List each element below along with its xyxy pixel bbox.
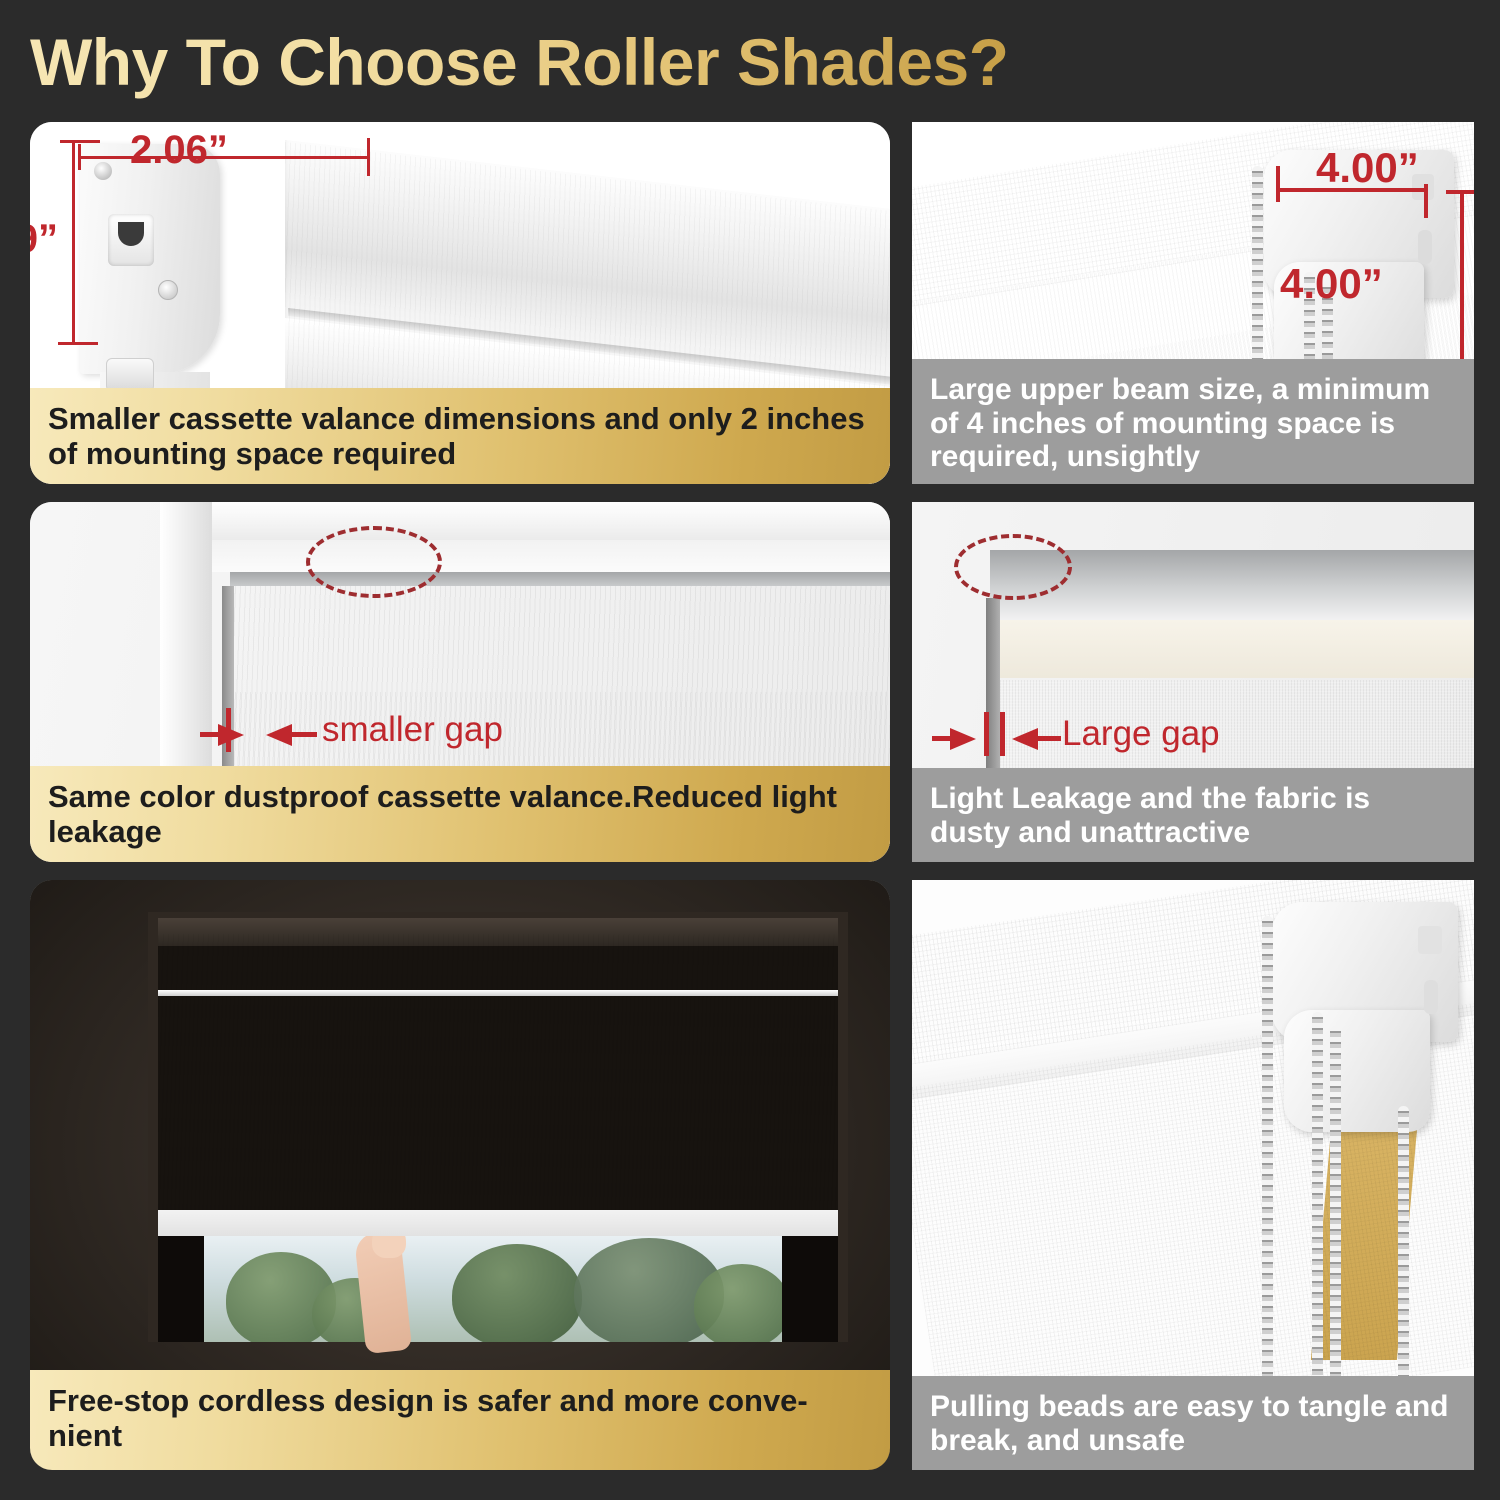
large-gap-label: Large gap <box>1062 714 1220 754</box>
width-dim-tick-left <box>78 144 81 170</box>
panel-large-gap: Large gap Light Leakage and the fabric i… <box>912 502 1474 862</box>
window-glass <box>202 1236 782 1342</box>
panel-1-caption: Smaller cassette valance dimensions and … <box>30 388 890 484</box>
roller-shade-fabric <box>158 996 838 1226</box>
gap-arrow-left-tail <box>200 732 222 737</box>
gap-arrow-right <box>266 724 292 746</box>
gap-marker-bar-2 <box>1000 712 1005 756</box>
panel-pulling-beads: Pulling beads are easy to tangle and bre… <box>912 880 1474 1470</box>
shade-hem-bar <box>158 1210 838 1236</box>
panel-5-caption: Free-stop cordless design is safer and m… <box>30 1370 890 1470</box>
beam-width-label: 4.00” <box>1316 144 1419 192</box>
panel-cordless-design: Free-stop cordless design is safer and m… <box>30 880 890 1470</box>
smaller-gap-label: smaller gap <box>322 710 503 750</box>
width-dimension-label: 2.06” <box>130 128 228 173</box>
height-dim-tick-bottom <box>58 342 98 345</box>
gap-highlight-ellipse <box>954 534 1072 600</box>
gap-marker-bar-1 <box>984 712 989 756</box>
panel-large-upper-beam: 4.00” 4.00” Large upper beam size, a min… <box>912 122 1474 484</box>
beam-width-tick-right <box>1424 184 1428 218</box>
panel-smaller-gap: smaller gap Same color dustproof cassett… <box>30 502 890 862</box>
beam-height-label: 4.00” <box>1280 260 1383 308</box>
valance-roller-slot <box>108 214 154 266</box>
gap-arrow-left-tail <box>932 736 954 741</box>
height-dimension-label: 5.49” <box>30 217 58 262</box>
beam-width-tick-left <box>1276 166 1280 202</box>
height-dim-tick-top <box>60 140 100 143</box>
width-dim-tick-right <box>367 138 370 176</box>
gap-highlight-ellipse <box>306 526 442 598</box>
panel-2-caption: Large upper beam size, a minimum of 4 in… <box>912 359 1474 484</box>
page-title: Why To Choose Roller Shades? <box>30 18 1130 106</box>
gap-arrow-right-tail <box>1037 736 1061 741</box>
gap-arrow-right <box>1012 728 1038 750</box>
panel-3-caption: Same color dustproof cassette valance.Re… <box>30 766 890 862</box>
cassette-valance <box>158 934 838 996</box>
panel-4-caption: Light Leakage and the fabric is dusty an… <box>912 768 1474 862</box>
panel-6-caption: Pulling beads are easy to tangle and bre… <box>912 1376 1474 1470</box>
height-dim-line <box>72 140 75 345</box>
gap-marker-bar <box>226 708 231 752</box>
panel-cassette-valance-dimensions: 2.06” 5.49” Smaller cassette valance dim… <box>30 122 890 484</box>
gap-arrow-right-tail <box>291 732 317 737</box>
beam-height-tick-top <box>1446 190 1474 194</box>
